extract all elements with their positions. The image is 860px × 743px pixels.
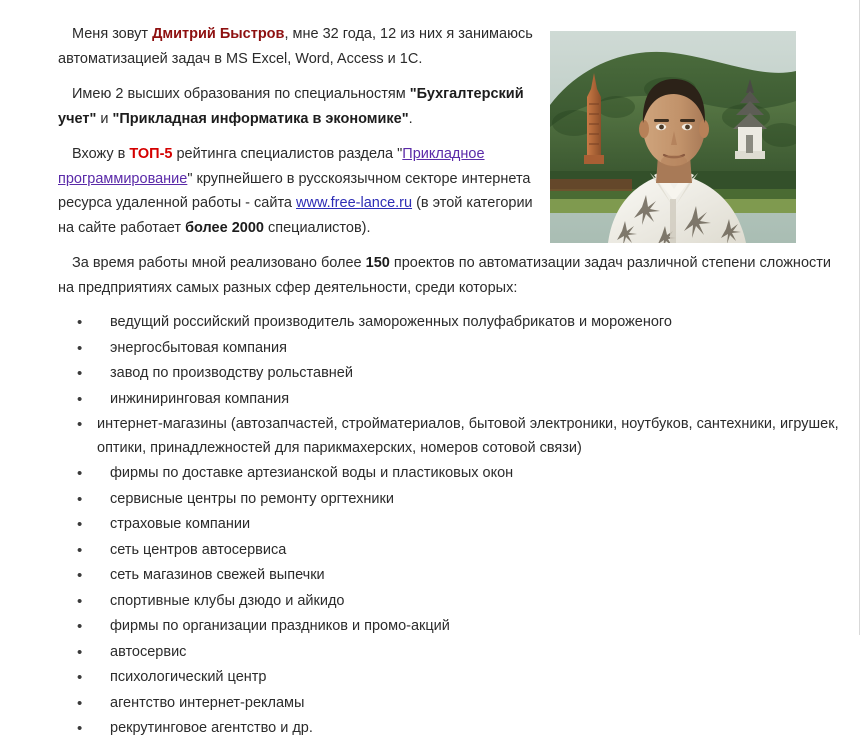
list-item: •спортивные клубы дзюдо и айкидо (58, 590, 850, 614)
list-item: •ведущий российский производитель заморо… (58, 311, 850, 335)
bullet-icon: • (77, 666, 87, 690)
education-period: . (409, 111, 413, 127)
list-item: •сеть магазинов свежей выпечки (58, 564, 850, 588)
document-body: Меня зовут Дмитрий Быстров, мне 32 года,… (58, 22, 850, 743)
list-item-label: сервисные центры по ремонту оргтехники (110, 488, 850, 512)
rating-text-section: рейтинга специалистов раздела " (172, 146, 402, 162)
list-item: •энергосбытовая компания (58, 337, 850, 361)
person-name: Дмитрий Быстров (152, 26, 284, 42)
list-item-label: завод по производству рольставней (110, 362, 850, 386)
list-item-label: интернет-магазины (автозапчастей, стройм… (97, 413, 850, 460)
list-item: •психологический центр (58, 666, 850, 690)
list-item-label: агентство интернет-рекламы (110, 692, 850, 716)
list-item: •инжиниринговая компания (58, 388, 850, 412)
list-item-label: фирмы по доставке артезианской воды и пл… (110, 462, 850, 486)
projects-count: 150 (366, 255, 390, 271)
portrait-photo-image (550, 31, 796, 243)
education-text-lead: Имею 2 высших образования по специальнос… (72, 86, 410, 102)
list-item: •завод по производству рольставней (58, 362, 850, 386)
bullet-icon: • (77, 692, 87, 716)
bullet-icon: • (77, 590, 87, 614)
specialists-count: более 2000 (185, 220, 264, 236)
bullet-icon: • (77, 311, 87, 335)
bullet-icon: • (77, 413, 87, 437)
list-item-label: страховые компании (110, 513, 850, 537)
client-list: •ведущий российский производитель заморо… (58, 311, 850, 741)
bullet-icon: • (77, 337, 87, 361)
bullet-icon: • (77, 513, 87, 537)
bullet-icon: • (77, 462, 87, 486)
list-item-label: психологический центр (110, 666, 850, 690)
bullet-icon: • (77, 362, 87, 386)
list-item-label: ведущий российский производитель заморож… (110, 311, 850, 335)
list-item-label: энергосбытовая компания (110, 337, 850, 361)
list-item-label: инжиниринговая компания (110, 388, 850, 412)
rating-text-tail: специалистов). (264, 220, 371, 236)
list-item: •фирмы по доставке артезианской воды и п… (58, 462, 850, 486)
list-item-label: сеть центров автосервиса (110, 539, 850, 563)
list-item-label: рекрутинговое агентство и др. (110, 717, 850, 741)
top-rank-badge: ТОП-5 (129, 146, 172, 162)
list-item-label: автосервис (110, 641, 850, 665)
list-item-label: спортивные клубы дзюдо и айкидо (110, 590, 850, 614)
bullet-icon: • (77, 388, 87, 412)
bullet-icon: • (77, 641, 87, 665)
list-item: •сервисные центры по ремонту оргтехники (58, 488, 850, 512)
degree-informatics: "Прикладная информатика в экономике" (113, 111, 409, 127)
projects-text-lead: За время работы мной реализовано более (72, 255, 366, 271)
portrait-photo (550, 31, 796, 243)
list-item: •агентство интернет-рекламы (58, 692, 850, 716)
list-item: •рекрутинговое агентство и др. (58, 717, 850, 741)
paragraph-projects: За время работы мной реализовано более 1… (58, 251, 850, 300)
link-free-lance-ru[interactable]: www.free-lance.ru (296, 195, 412, 211)
intro-text-lead: Меня зовут (72, 26, 152, 42)
bullet-icon: • (77, 539, 87, 563)
education-conjunction: и (96, 111, 112, 127)
list-item: •автосервис (58, 641, 850, 665)
list-item: •страховые компании (58, 513, 850, 537)
page-canvas: Меня зовут Дмитрий Быстров, мне 32 года,… (0, 0, 860, 635)
bullet-icon: • (77, 717, 87, 741)
rating-text-lead: Вхожу в (72, 146, 129, 162)
bullet-icon: • (77, 564, 87, 588)
list-item: •сеть центров автосервиса (58, 539, 850, 563)
list-item-label: сеть магазинов свежей выпечки (110, 564, 850, 588)
list-item: •интернет-магазины (автозапчастей, строй… (58, 413, 850, 460)
bullet-icon: • (77, 488, 87, 512)
